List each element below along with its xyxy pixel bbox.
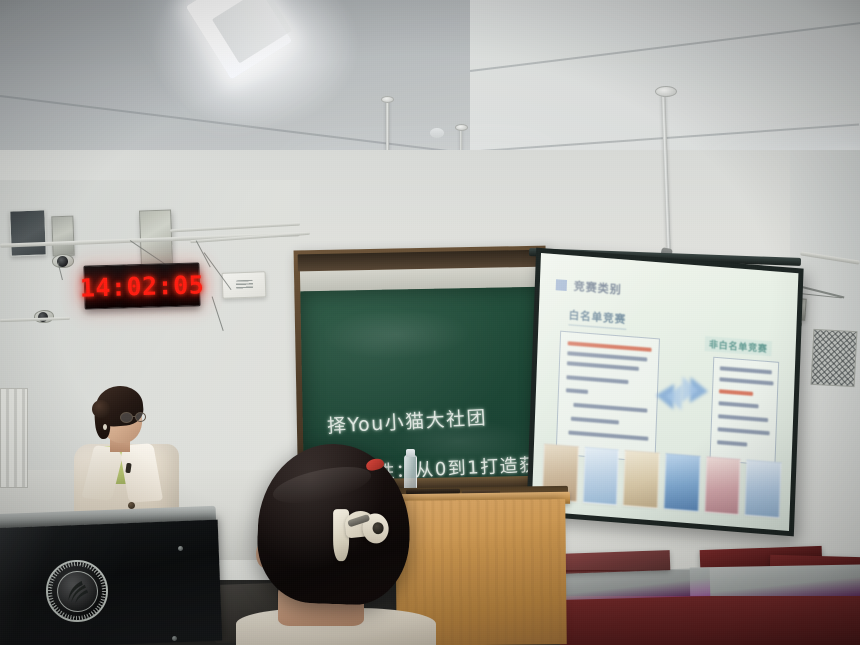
wall-gray-box (51, 216, 74, 257)
earring (103, 424, 107, 430)
classroom-photo: 14:02:05 择You小猫大社团 竞赛制胜：从0到1打造获奖作品 (0, 0, 860, 645)
slide-comparison-arrows (653, 370, 710, 418)
clock-time-display: 14:02:05 (79, 270, 204, 302)
desk-backrest (560, 550, 671, 574)
emblem-inner-disc (56, 570, 99, 613)
presentation-slide: 竞赛类别 白名单竞赛 非白名单竞赛 (532, 253, 799, 531)
flame-wing-icon (61, 576, 92, 607)
slide-thumbnail (623, 450, 660, 509)
hair-clip (330, 502, 392, 564)
glasses-bridge (132, 416, 136, 417)
projector-ceiling-plate (655, 86, 677, 97)
ceiling-lamp-base (430, 128, 444, 138)
screen-surface: 竞赛类别 白名单竞赛 非白名单竞赛 (532, 253, 799, 531)
led-wall-clock: 14:02:05 (83, 262, 200, 309)
glasses-lens-icon (135, 412, 146, 422)
ceiling-rod-plate (455, 124, 468, 131)
chevron-left-icon (665, 383, 682, 410)
slide-title-row: 竞赛类别 (556, 276, 622, 297)
vent-grille (811, 329, 858, 387)
av-console-panel (0, 520, 222, 645)
slide-thumbnail (583, 447, 620, 506)
chalk-smudge (321, 308, 472, 361)
slide-subtitle-left: 白名单竞赛 (568, 307, 626, 330)
wall-dark-panel (9, 209, 47, 256)
console-glare (0, 520, 222, 645)
slide-title: 竞赛类别 (574, 278, 622, 298)
sign-glyph-icon (236, 280, 253, 290)
console-screw (172, 636, 177, 641)
console-screw (178, 546, 183, 551)
bottle-cap (406, 449, 415, 457)
glasses-lens-icon (120, 412, 133, 423)
slide-thumbnail (664, 453, 701, 512)
slide-thumbnail (745, 460, 782, 519)
radiator (0, 388, 28, 488)
chevron-right-icon (682, 376, 699, 403)
floor-strip (560, 596, 860, 645)
slide-subtitle-right: 非白名单竞赛 (705, 336, 772, 356)
slide-bullet-icon (556, 279, 567, 291)
ceiling-rod-plate (381, 96, 394, 103)
presenter-hair-bun (92, 400, 110, 418)
slide-text-box-right (710, 357, 780, 466)
slide-thumbnail (704, 456, 741, 515)
